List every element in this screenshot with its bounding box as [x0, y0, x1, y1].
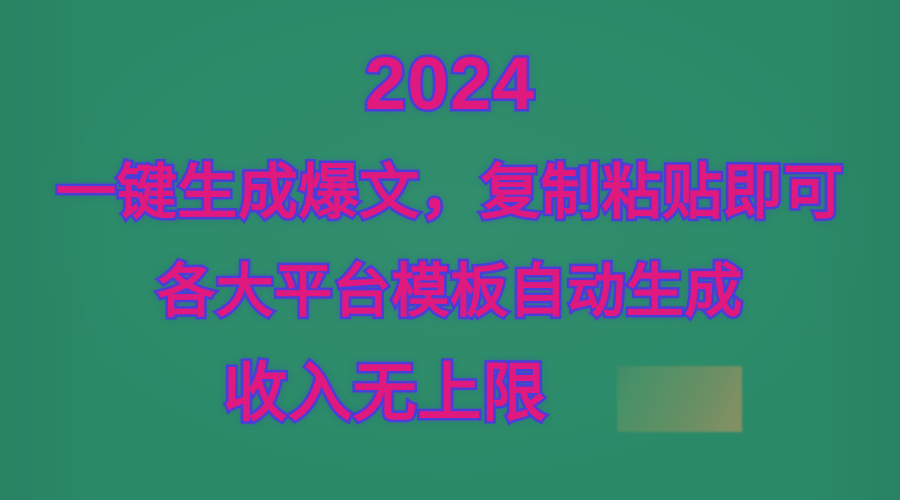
banner-subhead-text: 各大平台模板自动生成: [0, 258, 900, 326]
blurred-redaction-block: [617, 366, 742, 432]
banner-text-stack: 2024 一键生成爆文，复制粘贴即可 各大平台模板自动生成 收入无上限: [0, 0, 900, 500]
promo-banner: 2024 一键生成爆文，复制粘贴即可 各大平台模板自动生成 收入无上限: [0, 0, 900, 500]
banner-headline-text: 一键生成爆文，复制粘贴即可: [0, 158, 900, 228]
banner-year-text: 2024: [0, 44, 900, 124]
